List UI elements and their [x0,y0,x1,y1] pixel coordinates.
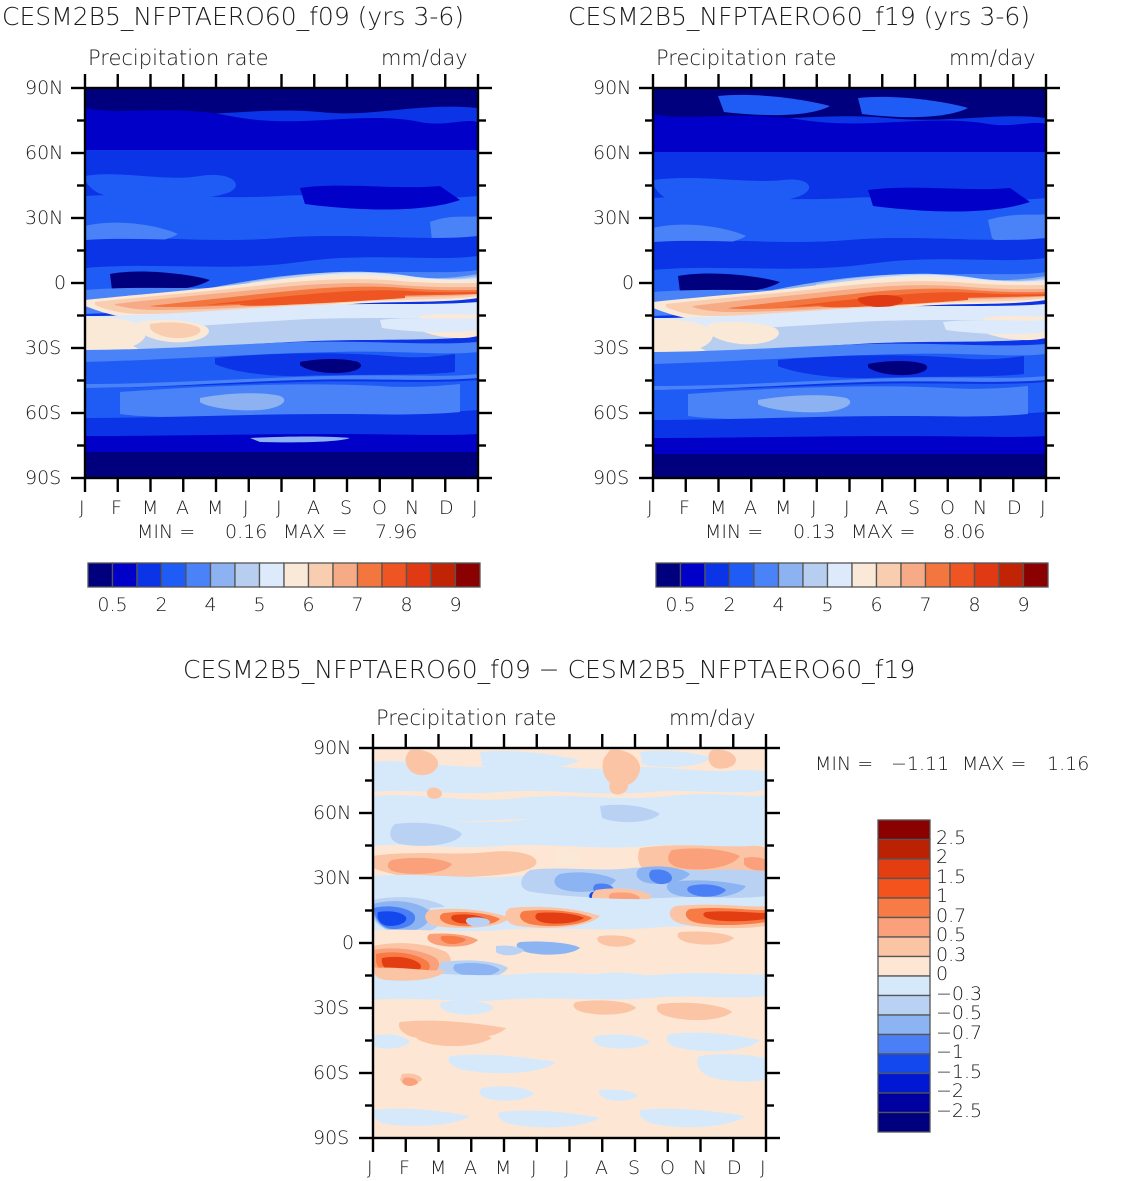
colorbar-swatch [878,996,930,1016]
colorbar-swatch [878,918,930,938]
panel-diff-xlabel-8: S [628,1157,640,1179]
panel-diff-ylabel-30s: 30S [313,997,349,1019]
panel-diff-ylabel-90n: 90N [313,737,351,759]
panel-diff-xlabel-9: O [660,1157,675,1179]
panel-diff-min-label: MIN = [815,753,873,775]
colorbar-swatch [878,1113,930,1133]
panel-diff-xlabel-3: A [464,1157,477,1179]
colorbar-swatch [878,937,930,957]
panel-diff-max-label: MAX = [962,753,1026,775]
panel-diff-ylabel-90s: 90S [313,1127,349,1149]
colorbar-difference-swatches[interactable] [877,820,931,1134]
panel-diff-xlabel-0: J [367,1157,373,1179]
panel-diff-xlabel-6: J [564,1157,570,1179]
panel-diff-ylabel-60n: 60N [313,802,351,824]
colorbar-difference-tick-label: −2.5 [936,1100,982,1122]
panel-diff-xlabel-12: J [760,1157,766,1179]
panel-diff-xlabel-4: M [495,1157,511,1179]
colorbar-swatch [878,1015,930,1035]
panel-diff-max-value: 1.16 [1047,753,1089,775]
panel-diff-xlabel-10: N [693,1157,707,1179]
colorbar-swatch [878,957,930,977]
panel-diff-xlabel-1: F [399,1157,410,1179]
colorbar-swatch [878,898,930,918]
panel-diff-ylabel-0: 0 [342,932,354,954]
colorbar-swatch [878,879,930,899]
colorbar-swatch [878,1074,930,1094]
panel-diff-contour-field [373,748,766,1138]
panel-diff-xlabel-5: J [531,1157,537,1179]
colorbar-swatch [878,859,930,879]
panel-diff-ylabel-30n: 30N [313,867,351,889]
colorbar-swatch [878,1054,930,1074]
colorbar-swatch [878,976,930,996]
panel-diff-xlabel-7: A [595,1157,608,1179]
colorbar-difference-labels: 2.521.510.70.50.30−0.3−0.5−0.7−1−1.5−2−2… [936,820,1026,1134]
panel-diff-ylabel-60s: 60S [313,1062,349,1084]
panel-diff-min-value: −1.11 [891,753,949,775]
colorbar-swatch [878,840,930,860]
colorbar-swatch [878,820,930,840]
colorbar-difference[interactable] [877,820,931,1134]
panel-diff-xlabel-2: M [430,1157,446,1179]
colorbar-swatch [878,1093,930,1113]
colorbar-swatch [878,1035,930,1055]
panel-diff-xlabel-11: D [727,1157,742,1179]
